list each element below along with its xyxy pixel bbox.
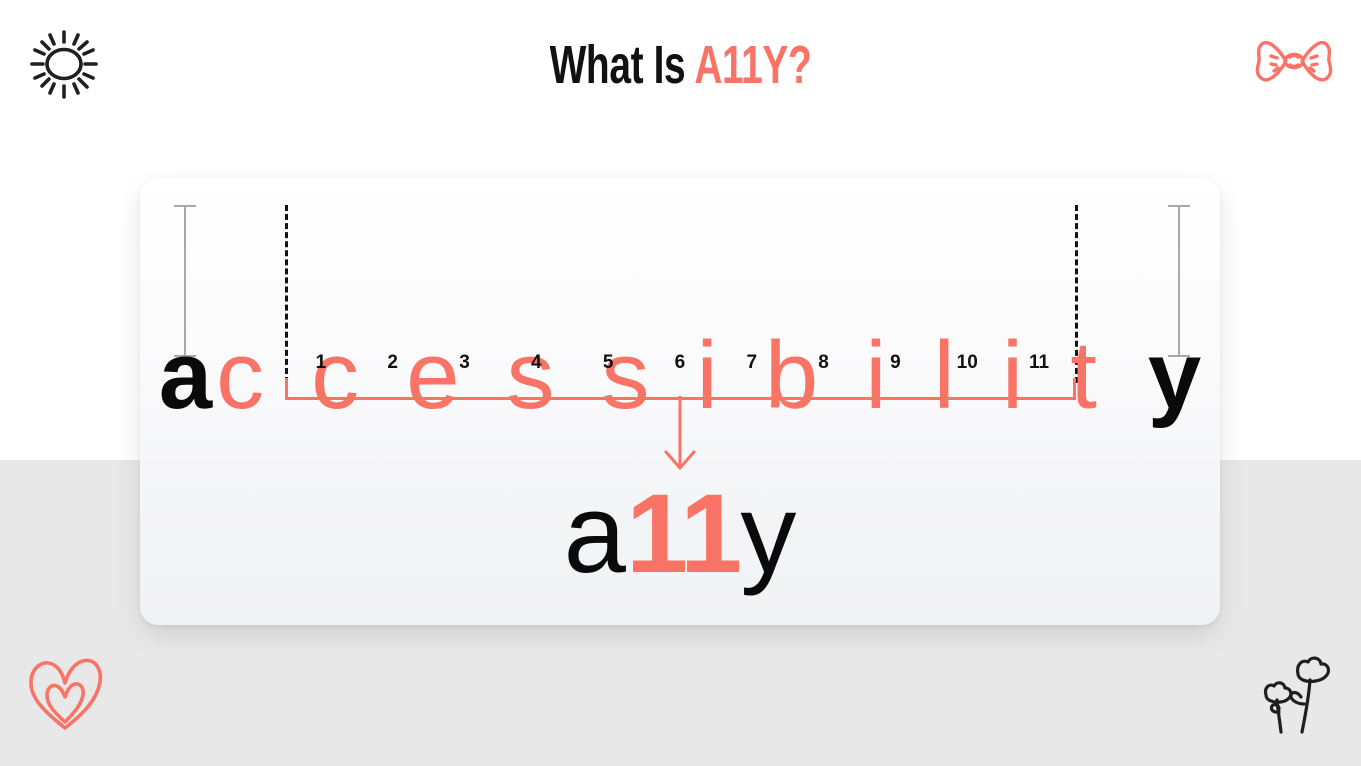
result-prefix: a	[564, 471, 626, 596]
bow-icon	[1252, 28, 1336, 99]
letter-count-ruler: 1 2 3 4 5 6 7 8 9 10 11	[285, 350, 1075, 376]
ruler-number: 4	[500, 350, 572, 376]
flowers-icon	[1250, 650, 1338, 743]
ruler-number: 3	[429, 350, 501, 376]
ruler-number: 7	[716, 350, 788, 376]
explanation-card: accessibility 1 2 3 4 5 6 7 8 9 10 11	[140, 178, 1220, 625]
page-title-dark-part: What Is	[550, 35, 695, 95]
result-a11y: a11y	[140, 478, 1220, 590]
word-prefix-letter: a	[159, 322, 212, 429]
ruler-number: 2	[357, 350, 429, 376]
page-title-accent-part: A11Y?	[694, 35, 811, 95]
page-title: What Is A11Y?	[191, 38, 1171, 92]
word-suffix-letter: y	[1148, 322, 1201, 429]
ruler-number: 6	[644, 350, 716, 376]
ruler-number: 10	[931, 350, 1003, 376]
slide-canvas: What Is A11Y?	[0, 0, 1361, 766]
ruler-number: 1	[285, 350, 357, 376]
sun-icon	[26, 26, 102, 107]
ruler-number: 5	[572, 350, 644, 376]
result-suffix: y	[740, 471, 796, 596]
ruler-number: 8	[788, 350, 860, 376]
double-heart-icon	[25, 652, 105, 741]
ruler-number: 11	[1003, 350, 1075, 376]
down-arrow-icon	[632, 396, 728, 474]
ruler-number: 9	[860, 350, 932, 376]
bracket-right-tick	[1073, 378, 1076, 400]
result-count: 11	[626, 471, 740, 596]
